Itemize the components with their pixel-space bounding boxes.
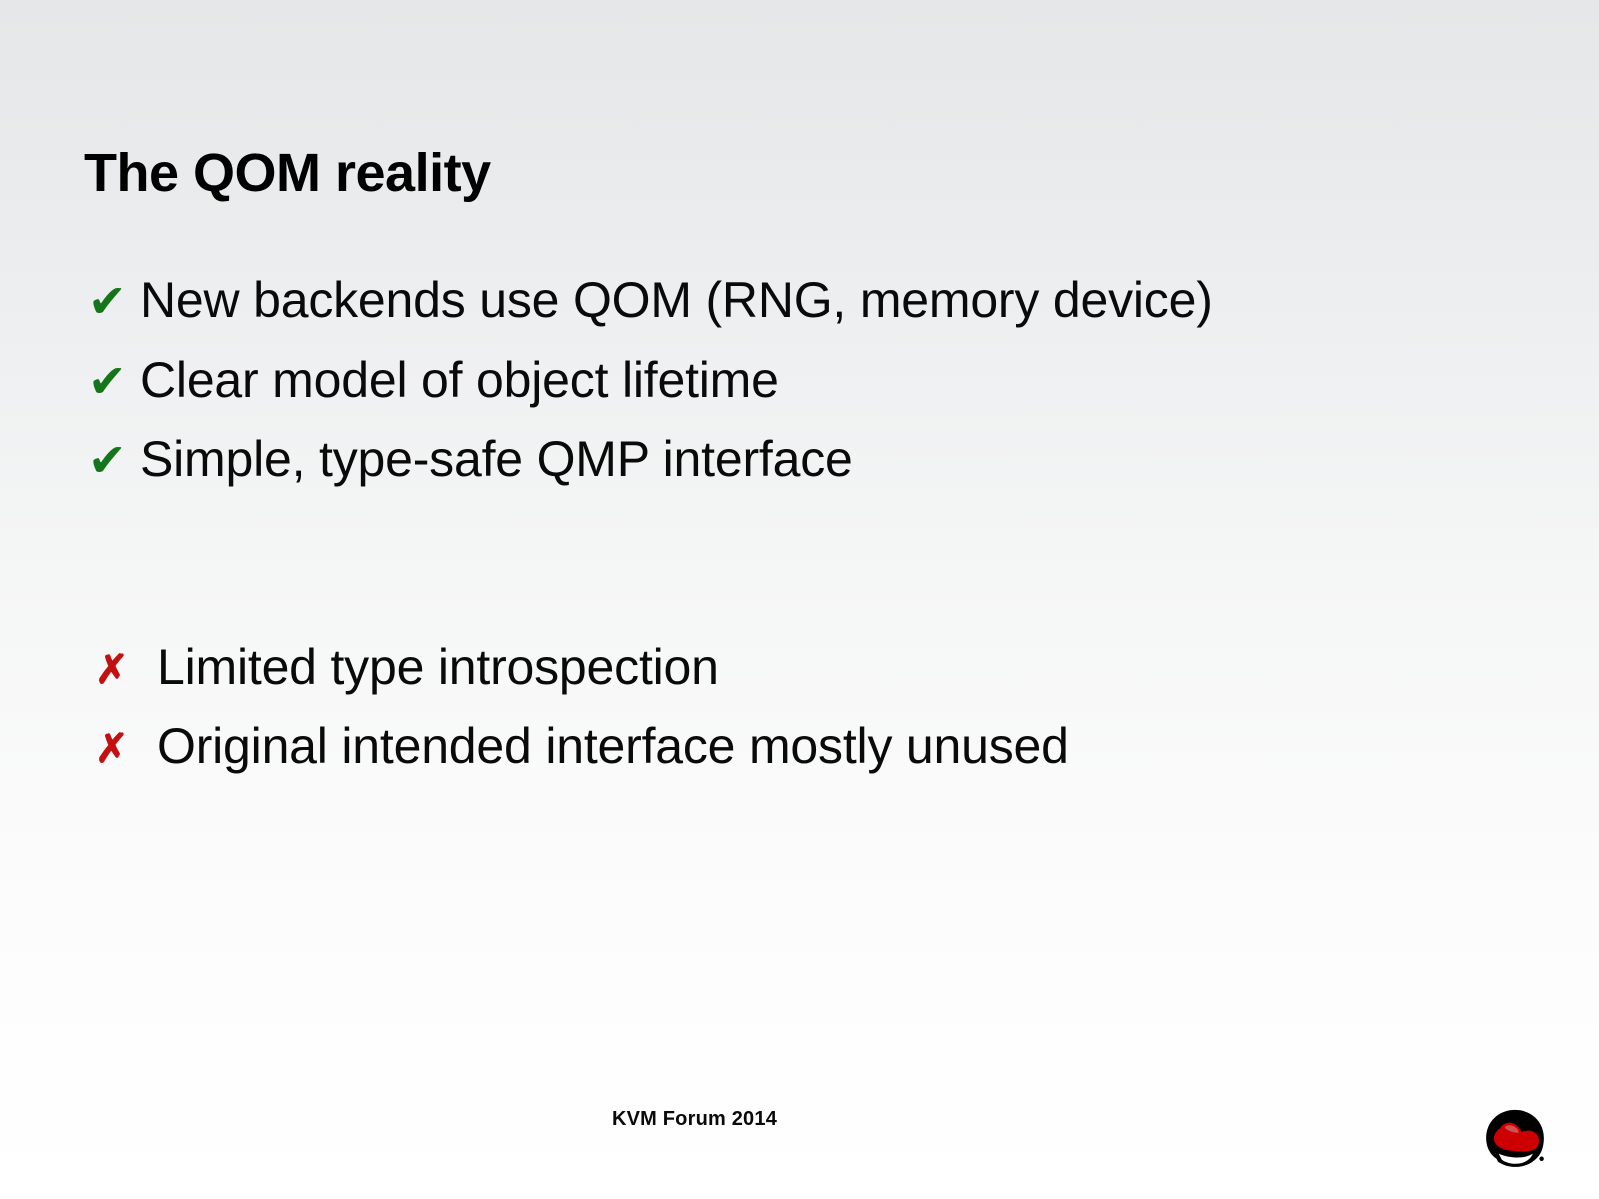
check-icon: ✔ — [88, 352, 140, 407]
slide-footer: KVM Forum 2014 — [0, 1108, 1599, 1131]
cross-icon: ✗ — [88, 639, 155, 694]
bullet-item-label: Simple, type-safe QMP interface — [140, 431, 1408, 489]
bullet-item-simple-qmp: ✔ Simple, type-safe QMP interface — [88, 431, 1408, 489]
bullet-item-label: Limited type introspection — [157, 639, 1408, 697]
bullet-item-label: Original intended interface mostly unuse… — [157, 718, 1408, 776]
slide-title: The QOM reality — [84, 144, 491, 203]
bullet-item-label: New backends use QOM (RNG, memory device… — [140, 272, 1300, 330]
check-icon: ✔ — [88, 272, 140, 327]
presentation-slide: The QOM reality ✔ New backends use QOM (… — [0, 0, 1599, 1199]
bullet-item-label: Clear model of object lifetime — [140, 352, 1408, 410]
red-hat-shadowman-logo — [1478, 1104, 1552, 1178]
bullet-item-clear-model: ✔ Clear model of object lifetime — [88, 352, 1408, 410]
bullet-list: ✔ New backends use QOM (RNG, memory devi… — [88, 272, 1408, 798]
bullet-list-spacer — [88, 511, 1408, 639]
bullet-item-new-backends: ✔ New backends use QOM (RNG, memory devi… — [88, 272, 1408, 330]
cross-icon: ✗ — [88, 718, 155, 773]
check-icon: ✔ — [88, 431, 140, 486]
bullet-item-original-interface: ✗ Original intended interface mostly unu… — [88, 718, 1408, 776]
bullet-item-limited-introspection: ✗ Limited type introspection — [88, 639, 1408, 697]
